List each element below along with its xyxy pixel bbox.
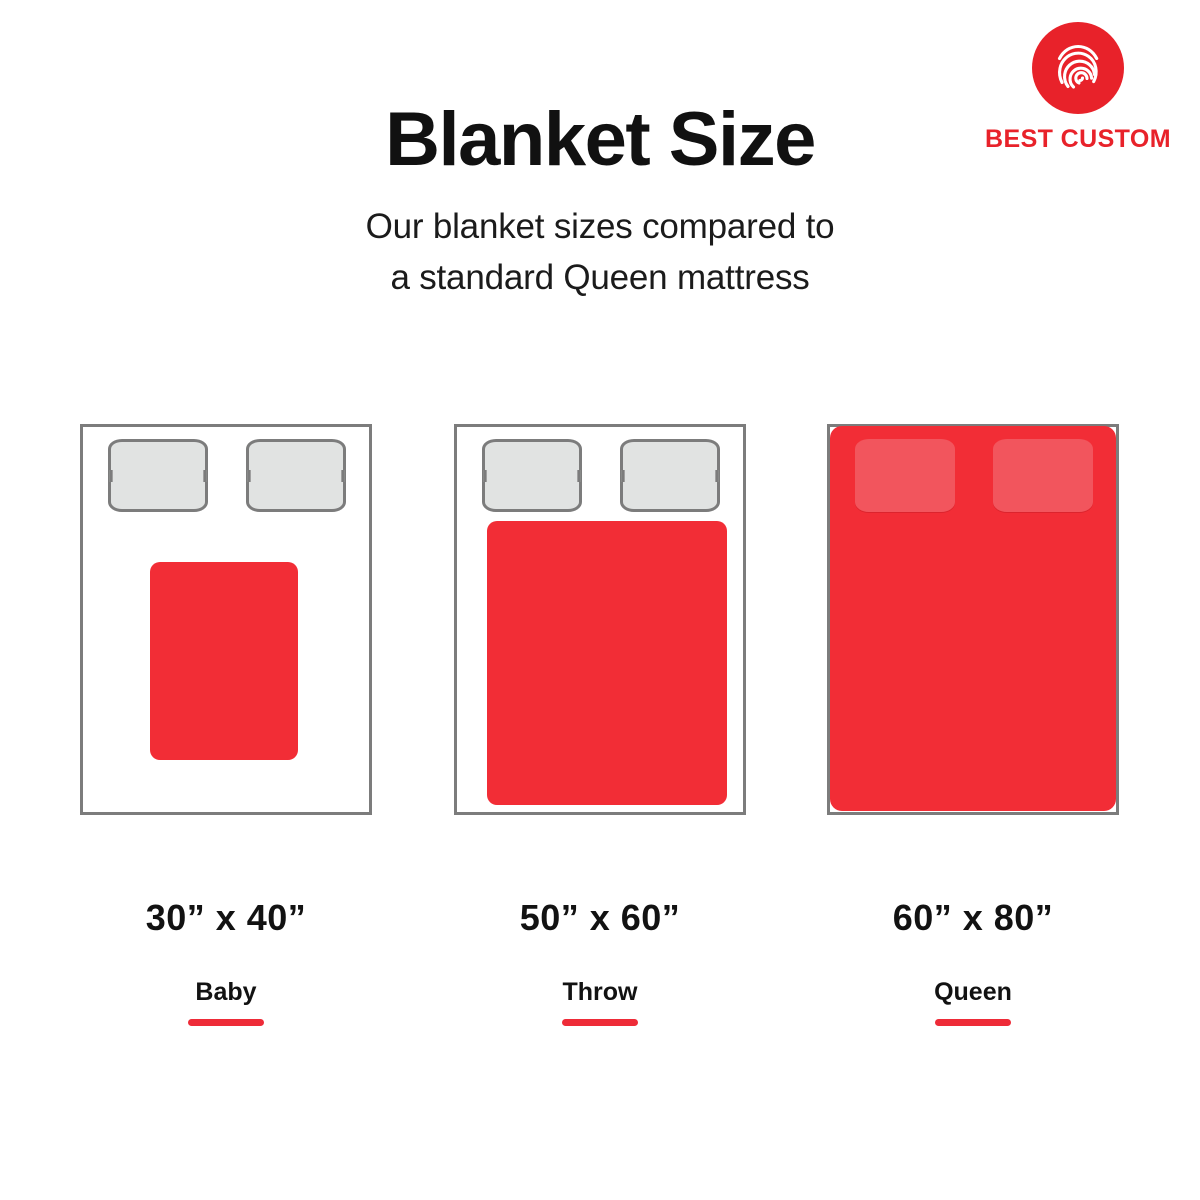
size-name-label: Baby xyxy=(80,980,372,1005)
pillow-right xyxy=(620,439,720,512)
blanket-baby xyxy=(150,562,298,760)
subtitle-line-2: a standard Queen mattress xyxy=(0,253,1200,304)
accent-underline xyxy=(562,1019,638,1026)
dimension-label: 60” x 80” xyxy=(827,900,1119,936)
bed-diagram-throw xyxy=(454,424,746,815)
bed-comparison-row xyxy=(0,424,1200,824)
size-name-label: Queen xyxy=(827,980,1119,1005)
caption-queen: 60” x 80” Queen xyxy=(827,900,1119,1026)
blanket-throw xyxy=(487,521,727,805)
caption-throw: 50” x 60” Throw xyxy=(454,900,746,1026)
size-name-label: Throw xyxy=(454,980,746,1005)
dimension-label: 50” x 60” xyxy=(454,900,746,936)
pillow-left-covered xyxy=(855,439,955,512)
pillow-left xyxy=(482,439,582,512)
heading-block: Blanket Size Our blanket sizes compared … xyxy=(0,100,1200,303)
caption-baby: 30” x 40” Baby xyxy=(80,900,372,1026)
dimension-label: 30” x 40” xyxy=(80,900,372,936)
page-subtitle: Our blanket sizes compared to a standard… xyxy=(0,202,1200,304)
blanket-queen xyxy=(830,426,1116,811)
pillow-left xyxy=(108,439,208,512)
bed-diagram-queen xyxy=(827,424,1119,815)
bed-diagram-baby xyxy=(80,424,372,815)
subtitle-line-1: Our blanket sizes compared to xyxy=(0,202,1200,253)
pillow-right xyxy=(246,439,346,512)
accent-underline xyxy=(935,1019,1011,1026)
accent-underline xyxy=(188,1019,264,1026)
page-title: Blanket Size xyxy=(0,100,1200,180)
caption-row: 30” x 40” Baby 50” x 60” Throw 60” x 80”… xyxy=(0,900,1200,1060)
pillow-right-covered xyxy=(993,439,1093,512)
